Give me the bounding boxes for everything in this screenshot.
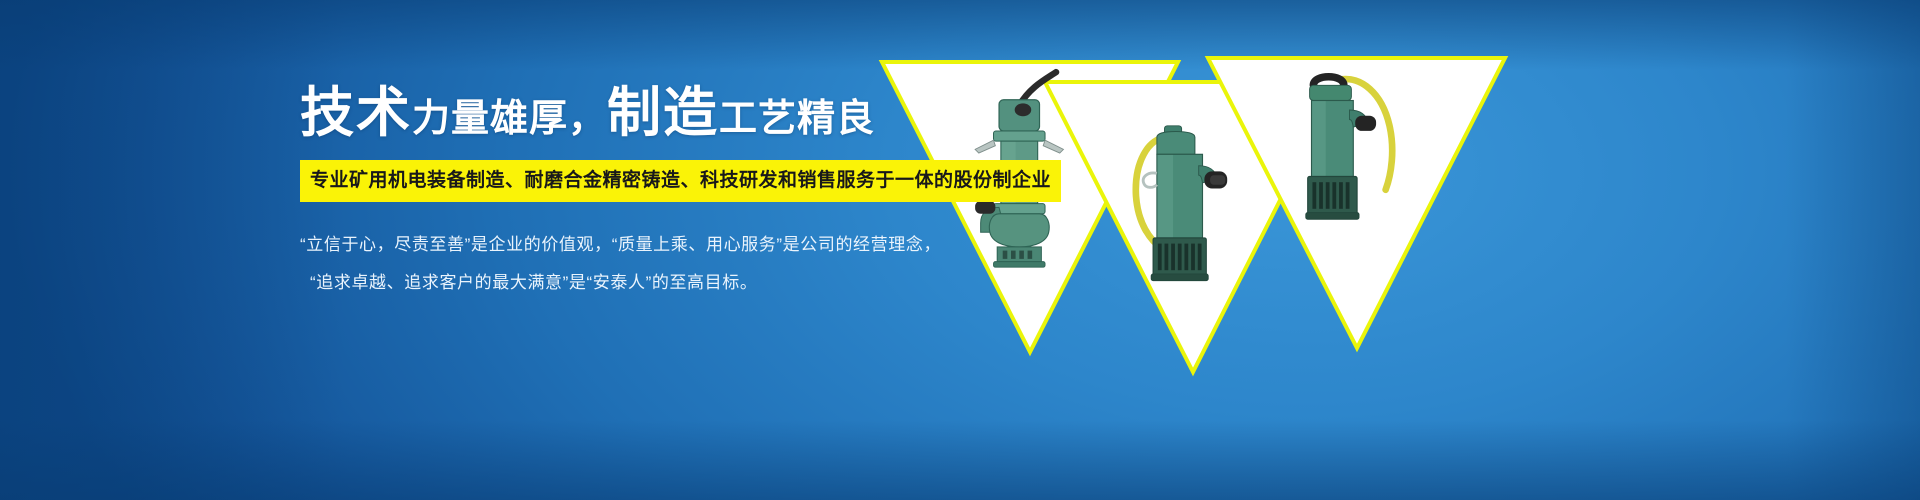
banner-text-block: 技术力量雄厚，制造工艺精良 专业矿用机电装备制造、耐磨合金精密铸造、科技研发和销… (300, 86, 910, 302)
headline-part-4: 工艺精良 (719, 98, 875, 140)
headline-part-1: 技术 (300, 83, 412, 143)
page-title: 技术力量雄厚，制造工艺精良 (300, 86, 910, 140)
headline-part-2: 力量雄厚， (412, 98, 607, 140)
triangle-graphics-group (860, 0, 1920, 500)
highlight-subtitle-bar: 专业矿用机电装备制造、耐磨合金精密铸造、科技研发和销售服务于一体的股份制企业 (300, 160, 1061, 202)
body-line-1: “立信于心，尽责至善”是企业的价值观，“质量上乘、用心服务”是公司的经营理念， (300, 226, 910, 264)
banner-body-copy: “立信于心，尽责至善”是企业的价值观，“质量上乘、用心服务”是公司的经营理念， … (300, 226, 910, 302)
hero-banner: 技术力量雄厚，制造工艺精良 专业矿用机电装备制造、耐磨合金精密铸造、科技研发和销… (0, 0, 1920, 500)
triangles-svg (860, 0, 1920, 500)
body-line-2: “追求卓越、追求客户的最大满意”是“安泰人”的至高目标。 (300, 264, 910, 302)
headline-part-3: 制造 (607, 83, 719, 143)
